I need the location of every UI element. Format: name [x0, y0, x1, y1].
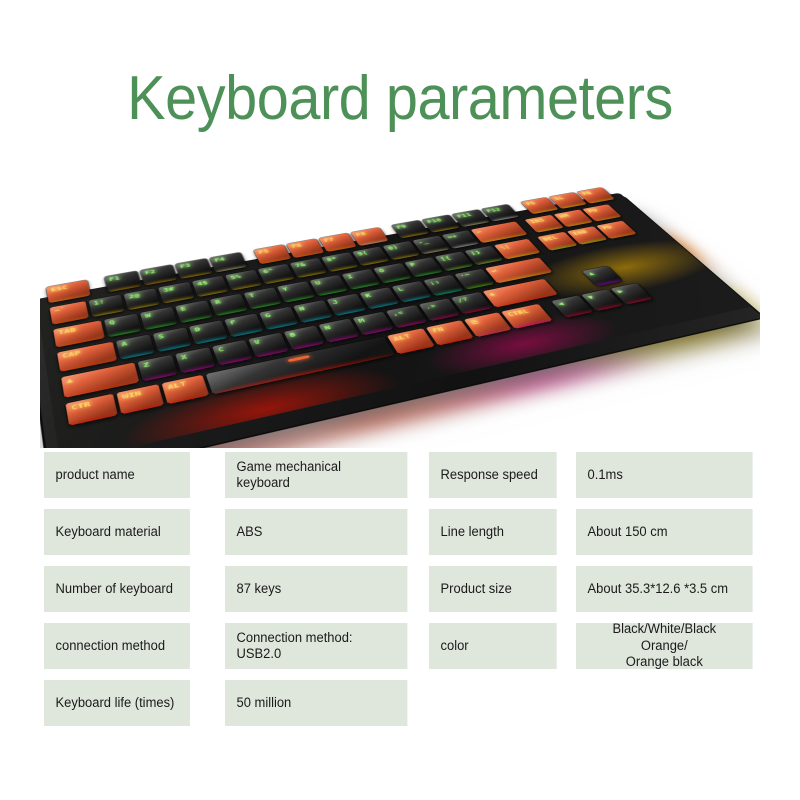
spec-value-keyboard-life: 50 million — [225, 680, 407, 726]
key-f8: F8 — [351, 227, 389, 246]
spec-value-product-size: About 35.3*12.6 *3.5 cm — [576, 566, 753, 612]
keyboard-perspective-wrapper: ESC F1 F2 F3 F4 F5 F6 F7 F8 F9 F10 F11 F… — [40, 158, 760, 448]
key-esc: ESC — [46, 280, 90, 303]
spec-label-number-of-keyboard: Number of keyboard — [44, 566, 190, 612]
spec-label-connection-method: connection method — [44, 623, 190, 669]
table-row: Keyboard material ABS Line length About … — [44, 509, 760, 555]
key-f3: F3 — [175, 258, 213, 279]
spec-value-response-speed: 0.1ms — [576, 452, 753, 498]
key-r: R — [210, 294, 248, 317]
key-f1: F1 — [104, 271, 141, 293]
spec-value-keyboard-material: ABS — [225, 509, 407, 555]
keyboard-body: ESC F1 F2 F3 F4 F5 F6 F7 F8 F9 F10 F11 F… — [41, 191, 745, 448]
spec-label-response-speed: Response speed — [429, 452, 557, 498]
key-f2: F2 — [140, 265, 178, 286]
key-f4: F4 — [209, 252, 247, 272]
spec-value-color: Black/White/Black Orange/ Orange black — [576, 623, 753, 669]
key-arrow-up: ▲ — [582, 266, 623, 287]
spec-value-line-length: About 150 cm — [576, 509, 753, 555]
spec-value-product-name: Game mechanical keyboard — [225, 452, 407, 498]
key-e: E — [175, 300, 213, 323]
spec-label-line-length: Line length — [429, 509, 557, 555]
key-g: G — [259, 307, 299, 330]
spec-value-number-of-keyboard: 87 keys — [225, 566, 407, 612]
key-f7: F7 — [319, 233, 357, 252]
key-f5: F5 — [253, 244, 291, 264]
keyboard-product-image: ESC F1 F2 F3 F4 F5 F6 F7 F8 F9 F10 F11 F… — [40, 158, 760, 448]
product-spec-page: Keyboard parameters ESC F1 F2 F3 F4 F5 — [0, 0, 800, 800]
spec-label-product-size: Product size — [429, 566, 557, 612]
table-row: connection method Connection method: USB… — [44, 623, 760, 669]
spec-cell-empty-label — [429, 680, 557, 726]
spec-cell-empty-value — [576, 680, 753, 726]
specification-table: product name Game mechanical keyboard Re… — [44, 452, 760, 737]
key-f6: F6 — [286, 239, 324, 258]
page-title: Keyboard parameters — [28, 66, 772, 131]
table-row: Keyboard life (times) 50 million — [44, 680, 760, 726]
table-row: product name Game mechanical keyboard Re… — [44, 452, 760, 498]
spec-label-keyboard-life: Keyboard life (times) — [44, 680, 190, 726]
spec-label-product-name: product name — [44, 452, 190, 498]
table-row: Number of keyboard 87 keys Product size … — [44, 566, 760, 612]
spec-value-connection-method: Connection method: USB2.0 — [225, 623, 407, 669]
spec-label-keyboard-material: Keyboard material — [44, 509, 190, 555]
spec-label-color: color — [429, 623, 557, 669]
